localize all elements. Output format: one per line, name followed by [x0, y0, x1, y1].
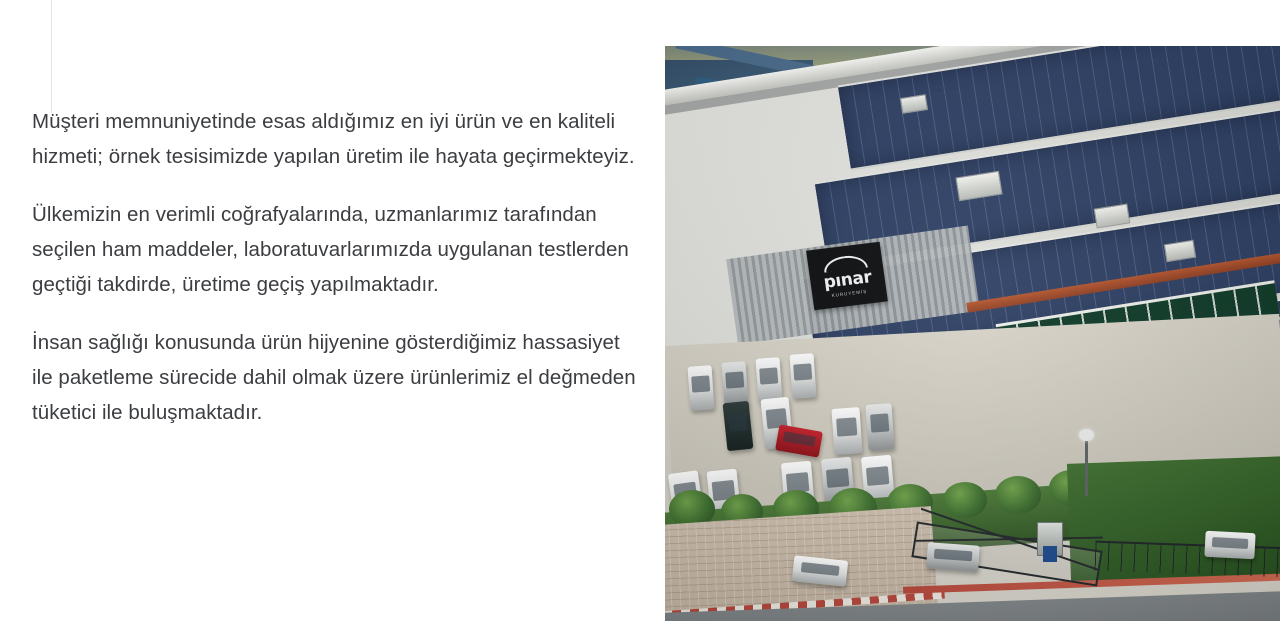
pinar-wall-sign: pınar KURUYEMİŞ	[806, 242, 888, 310]
text-column: Müşteri memnuniyetinde esas aldığımız en…	[32, 104, 644, 430]
vertical-accent-rule	[51, 0, 52, 113]
facility-photo: pınar KURUYEMİŞ pınar	[665, 46, 1280, 621]
photo-parked-car	[687, 365, 714, 411]
photo-parked-car	[789, 353, 816, 399]
photo-moving-car	[926, 542, 980, 572]
photo-moving-car	[792, 555, 848, 587]
paragraph-raw-material-statement: Ülkemizin en verimli coğrafyalarında, uz…	[32, 197, 644, 302]
photo-lamp-post	[1085, 438, 1088, 496]
photo-parked-car	[865, 403, 894, 451]
photo-parked-car	[755, 357, 782, 403]
photo-parked-car-dark	[723, 401, 754, 451]
photo-shrub	[943, 482, 987, 518]
photo-utility-cabinet-panel	[1043, 546, 1057, 562]
page-root: Müşteri memnuniyetinde esas aldığımız en…	[0, 0, 1280, 621]
photo-parked-car	[721, 361, 748, 407]
photo-moving-car	[1204, 531, 1255, 560]
paragraph-hygiene-statement: İnsan sağlığı konusunda ürün hijyenine g…	[32, 325, 644, 430]
paragraph-quality-statement: Müşteri memnuniyetinde esas aldığımız en…	[32, 104, 644, 174]
photo-parked-car	[831, 407, 862, 455]
photo-shrub	[995, 476, 1041, 514]
facility-photo-canvas: pınar KURUYEMİŞ pınar	[665, 46, 1280, 621]
